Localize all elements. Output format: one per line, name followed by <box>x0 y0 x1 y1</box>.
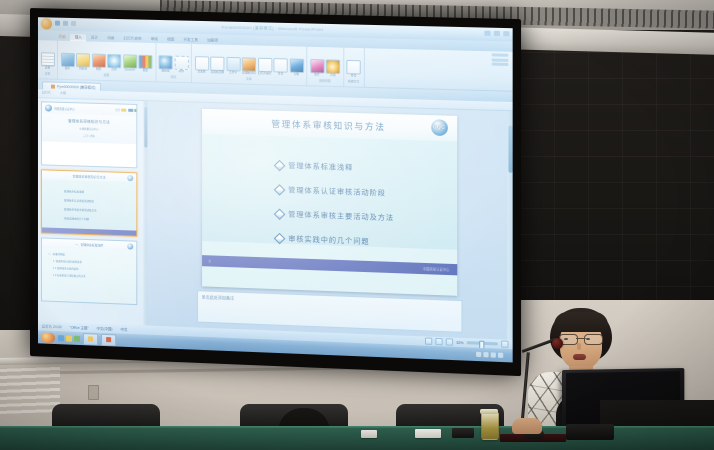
ribbon-group-special-symbols: 符号 特殊符号 <box>344 48 365 87</box>
radiator-grille <box>0 366 60 414</box>
insert-object-icon <box>289 59 303 74</box>
glasses-icon <box>559 334 603 343</box>
shield-icon[interactable] <box>498 353 503 358</box>
thumb1-title: 管理体系审核知识与方法 <box>68 119 110 125</box>
ribbon-filler-line <box>492 63 509 66</box>
system-tray[interactable] <box>476 352 509 358</box>
ribbon-button-textbox[interactable]: 文本框 <box>195 56 208 74</box>
ie-icon[interactable] <box>58 335 64 341</box>
thumb2-bullet: 管理体系标准浅释 <box>64 189 137 196</box>
ribbon-button-label: 形状 <box>111 69 116 72</box>
ribbon-button-label: 符号 <box>351 75 357 78</box>
slide-title: 管理体系审核知识与方法 <box>271 117 385 132</box>
slide-thumbnail-pane[interactable]: 中国质量认证中心 管理体系审核知识与方法 中国质量认证中 <box>38 98 147 325</box>
document-tab-label: Pym00000000 [兼容模式] <box>57 84 95 90</box>
cqc-logo-icon <box>127 243 133 249</box>
current-slide[interactable]: 管理体系审核知识与方法 CQC 管理体系标准浅释 <box>202 109 457 296</box>
close-icon[interactable] <box>503 31 509 36</box>
ribbon-button-object[interactable]: 符号 <box>274 58 287 76</box>
slide-thumbnail-2[interactable]: 管理体系审核知识与方法 管理体系标准浅释 管理体系认证审核活动阶段 管理体系审核… <box>41 169 137 236</box>
notes-placeholder: 单击此处添加备注 <box>202 294 235 300</box>
restore-icon[interactable] <box>494 31 500 36</box>
presenter-mouth <box>573 354 586 360</box>
ribbon-button-label: 影片 <box>314 74 320 77</box>
taskbar-app-powerpoint[interactable] <box>101 333 116 346</box>
ribbon-button-wordart[interactable]: 艺术字 <box>226 57 239 75</box>
ribbon-button-header-footer[interactable]: 页眉和页脚 <box>211 57 224 75</box>
zoom-level[interactable]: 52% <box>456 340 463 344</box>
slide-footer-band: 2 中国质量认证中心 <box>202 255 457 275</box>
ribbon-button-date-time[interactable]: 日期和时间 <box>242 57 255 75</box>
ribbon-group-media: 影片 声音 媒体剪辑 <box>307 47 344 87</box>
slideshow-view-icon[interactable] <box>446 338 453 345</box>
diamond-bullet-icon <box>273 209 285 220</box>
ribbon-group-links: 超链接 动作 链接 <box>156 43 192 82</box>
ribbon-button-action[interactable]: 动作 <box>175 56 188 74</box>
badge-icon <box>128 109 133 112</box>
slide-scrollbar-thumb[interactable] <box>508 125 512 172</box>
window-controls[interactable] <box>484 31 509 37</box>
ribbon-button-label: 图片 <box>65 68 70 71</box>
thumb2-title: 管理体系审核知识与方法 <box>72 174 105 179</box>
slide-bullet-text: 管理体系审核主要活动及方法 <box>288 209 394 223</box>
presenter-hand <box>512 418 542 434</box>
thumb1-logo-text: 中国质量认证中心 <box>54 106 75 111</box>
thumb1-footer-band <box>42 141 136 167</box>
thumb1-subtitle-1: 中国质量认证中心 <box>79 127 98 131</box>
ribbon-button-label: 剪贴画 <box>79 68 87 71</box>
ribbon-button-sound[interactable]: 声音 <box>326 60 339 78</box>
thumb2-bullet: 管理体系认证审核活动阶段 <box>64 198 137 205</box>
minimize-icon[interactable] <box>484 31 490 36</box>
ribbon-group-label: 媒体剪辑 <box>319 78 331 82</box>
photo-album-icon <box>92 54 106 68</box>
slide-page-number: 2 <box>209 259 211 263</box>
special-symbol-icon <box>346 60 360 75</box>
presenter-nose <box>577 343 581 350</box>
ribbon-button-insert-object[interactable]: 对象 <box>290 59 303 77</box>
ribbon-filler-line <box>492 53 509 56</box>
picture-icon <box>60 53 74 67</box>
textbox-icon <box>194 56 208 70</box>
ribbon-button-movie[interactable]: 影片 <box>310 59 323 77</box>
slide-counter: 幻灯片 2/130 <box>42 323 62 329</box>
ribbon-button-label: 动作 <box>179 71 184 74</box>
wall-right-panel-grid <box>520 48 714 313</box>
thumb2-body: 管理体系标准浅释 管理体系认证审核活动阶段 管理体系审核主要活动及方法 审核实践… <box>42 179 137 231</box>
diamond-bullet-icon <box>273 184 285 195</box>
hyperlink-icon <box>159 55 173 69</box>
slide-bullet-text: 管理体系认证审核活动阶段 <box>288 185 386 198</box>
slide-bullet-4: 审核实践中的几个问题 <box>275 233 457 249</box>
fit-to-window-icon[interactable] <box>501 340 508 347</box>
ppt-file-icon <box>51 84 55 88</box>
ribbon-button-label: 文本框 <box>197 71 205 74</box>
projection-screen: Punkt0000000 [兼容模式] - Microsoft PowerPoi… <box>30 8 521 376</box>
folder-icon <box>88 336 93 341</box>
taskbar-app-folder[interactable] <box>83 333 98 346</box>
theme-name: "Office 主题" <box>70 325 89 331</box>
thumb1-badges <box>115 108 138 112</box>
ribbon-group-label: 插图 <box>104 72 110 76</box>
ribbon-button-label: 表格 <box>45 67 50 70</box>
ribbon-button-chart[interactable]: 图表 <box>139 55 152 73</box>
ribbon-button-shapes[interactable]: 形状 <box>108 54 121 72</box>
tab-slides[interactable]: 幻灯片 <box>42 90 51 94</box>
cqc-logo-icon <box>127 175 133 181</box>
presenter-fringe <box>554 312 608 332</box>
badge-icon <box>115 108 120 111</box>
powerpoint-window: Punkt0000000 [兼容模式] - Microsoft PowerPoi… <box>38 17 513 362</box>
slide-number-icon <box>258 58 272 73</box>
ribbon-button-label: 超链接 <box>162 70 170 73</box>
ribbon-group-tables: 表格 表格 <box>38 40 58 79</box>
microphone-head <box>552 338 563 349</box>
input-method-indicator[interactable]: 中文 <box>121 327 128 332</box>
thumb3-title: 一、管理体系标准浅释 <box>75 242 103 247</box>
glasses-lens-right <box>584 334 603 345</box>
notebook <box>415 429 441 438</box>
cqc-logo-icon: CQC <box>431 119 448 136</box>
ribbon-button-label: 对象 <box>294 73 300 76</box>
ribbon-button-label: 图表 <box>143 70 148 73</box>
badge-icon <box>121 109 126 112</box>
slide-bullet-text: 管理体系标准浅释 <box>288 161 353 173</box>
tea-cup <box>481 412 499 440</box>
ribbon-button-table[interactable]: 表格 <box>41 52 54 70</box>
media-icon[interactable] <box>74 335 80 341</box>
black-case <box>452 428 474 438</box>
slide-bullet-text: 审核实践中的几个问题 <box>288 234 369 247</box>
ribbon-button-hyperlink[interactable]: 超链接 <box>159 55 172 73</box>
shapes-icon <box>107 54 121 68</box>
thumb3-line: 1.1 管理体系标准的结构 <box>48 266 137 273</box>
chart-icon <box>138 55 152 69</box>
ribbon-button-label: 艺术字 <box>229 72 237 75</box>
smartart-icon <box>123 54 137 68</box>
slide-thumbnail-3[interactable]: 一、管理体系标准浅释 一、标准的构成 1. 管理体系标准的通用要求 1.1 管理… <box>41 237 137 305</box>
ribbon-button-label: 页眉和页脚 <box>210 71 224 74</box>
thumb3-line: 1. 管理体系标准的通用要求 <box>48 259 137 266</box>
ribbon-group-illustrations: 图片 剪贴画 相册 形 <box>58 41 156 82</box>
notes-pane[interactable]: 单击此处添加备注 <box>196 290 461 333</box>
ribbon-overflow-area <box>488 51 513 91</box>
thumb2-bullet: 审核实践中的几个问题 <box>64 216 137 223</box>
tab-outline[interactable]: 大纲 <box>60 91 66 95</box>
network-icon[interactable] <box>476 352 481 357</box>
diamond-bullet-icon <box>273 160 285 171</box>
ribbon-button-label: 幻灯片编号 <box>258 73 272 76</box>
slide-content-body: 管理体系标准浅释 管理体系认证审核活动阶段 管理体系审核主要活动及方法 <box>202 134 457 250</box>
thumb1-body: 管理体系审核知识与方法 中国质量认证中心 二〇一四年 <box>42 113 136 144</box>
diamond-bullet-icon <box>273 233 285 244</box>
ribbon-button-label: 日期和时间 <box>242 72 256 75</box>
ribbon-button-special-symbol[interactable]: 符号 <box>347 60 360 78</box>
thumb1-subtitle-2: 二〇一四年 <box>83 134 95 138</box>
ime-icon[interactable] <box>491 352 496 357</box>
slide-editing-stage[interactable]: 管理体系审核知识与方法 CQC 管理体系标准浅释 <box>147 101 512 340</box>
badge-icon <box>134 109 137 112</box>
thumb3-body: 一、标准的构成 1. 管理体系标准的通用要求 1.1 管理体系标准的结构 1.2… <box>42 247 137 304</box>
thumb3-line: 一、标准的构成 <box>48 252 137 259</box>
header-footer-icon <box>210 57 224 71</box>
explorer-icon[interactable] <box>66 335 72 341</box>
sound-icon <box>326 60 340 75</box>
normal-view-icon[interactable] <box>425 338 432 345</box>
powerpoint-icon <box>106 337 111 342</box>
cqc-logo-icon <box>45 104 52 111</box>
table-icon <box>40 52 54 66</box>
mobile-phone <box>361 430 377 438</box>
lecture-room-scene: Punkt0000000 [兼容模式] - Microsoft PowerPoi… <box>0 0 714 450</box>
slide-bullet-1: 管理体系标准浅释 <box>275 160 457 176</box>
ribbon-button-label: 符号 <box>278 73 284 76</box>
ribbon-button-slide-number[interactable]: 幻灯片编号 <box>258 58 271 76</box>
ribbon-group-text: 文本框 页眉和页脚 艺术字 <box>192 44 307 85</box>
movie-icon <box>310 59 324 74</box>
date-time-icon <box>242 57 256 72</box>
ribbon-button-label: SmartArt <box>124 69 135 72</box>
volume-icon[interactable] <box>483 352 488 357</box>
wall-outlet-plate <box>88 385 99 400</box>
symbol-icon <box>273 58 287 73</box>
projection-surface: Punkt0000000 [兼容模式] - Microsoft PowerPoi… <box>38 17 513 362</box>
slide-thumbnail-1[interactable]: 中国质量认证中心 管理体系审核知识与方法 中国质量认证中 <box>41 101 137 168</box>
slide-bullet-2: 管理体系认证审核活动阶段 <box>275 185 457 201</box>
language-indicator[interactable]: 中文(中国) <box>97 326 113 332</box>
slide-bullet-3: 管理体系审核主要活动及方法 <box>275 209 457 225</box>
ribbon-button-smartart[interactable]: SmartArt <box>123 55 136 73</box>
thumb3-line: 1.2 标准条款与审核要点的关系 <box>48 273 137 280</box>
start-orb-icon[interactable] <box>41 332 55 343</box>
tea-cup-lid <box>480 409 498 414</box>
desk-equipment <box>566 424 614 440</box>
ribbon-filler-line <box>492 58 509 61</box>
wordart-icon <box>226 57 240 72</box>
slide-scrollbar[interactable] <box>507 111 512 340</box>
action-icon <box>174 56 188 70</box>
quick-launch[interactable] <box>58 335 80 342</box>
zoom-slider[interactable] <box>467 341 498 345</box>
ribbon-button-picture[interactable]: 图片 <box>61 53 74 71</box>
ribbon-group-label: 文本 <box>246 76 252 80</box>
ribbon-button-label: 声音 <box>330 74 336 77</box>
ribbon-button-clipart[interactable]: 剪贴画 <box>76 53 89 71</box>
ribbon-group-label: 链接 <box>171 74 177 78</box>
ribbon-group-label: 表格 <box>45 71 51 75</box>
ribbon-button-label: 相册 <box>96 68 101 71</box>
ribbon-button-photo-album[interactable]: 相册 <box>92 54 105 72</box>
cqc-logo-text: CQC <box>433 124 446 130</box>
workarea: 中国质量认证中心 管理体系审核知识与方法 中国质量认证中 <box>38 98 513 340</box>
clipart-icon <box>76 53 90 67</box>
slide-sorter-view-icon[interactable] <box>436 338 443 345</box>
thumb2-bullet: 管理体系审核主要活动及方法 <box>64 207 137 214</box>
slide-footer-text: 中国质量认证中心 <box>423 266 450 272</box>
ribbon-group-label: 特殊符号 <box>348 79 360 83</box>
